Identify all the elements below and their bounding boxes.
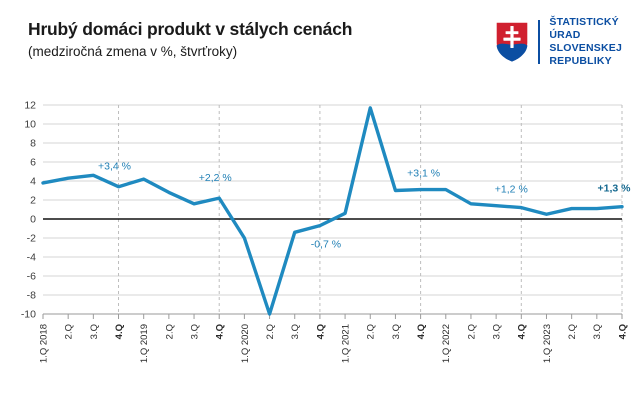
x-axis-tick-label: 1.Q 2022 — [441, 324, 452, 363]
gdp-line-chart: 121086420-2-4-6-8-10 +3,4 %+2,2 %-0,7 %+… — [0, 84, 640, 412]
value-annotation-label: +1,2 % — [495, 184, 528, 196]
x-axis-tick-label: 4.Q — [215, 324, 226, 339]
x-axis-tick-label: 4.Q — [517, 324, 528, 339]
chart-header: Hrubý domáci produkt v stálych cenách (m… — [0, 0, 640, 84]
page-title: Hrubý domáci produkt v stálych cenách — [28, 19, 352, 40]
y-axis-tick-label: -4 — [27, 252, 36, 264]
logo-text-line-1: ŠTATISTICKÝ — [549, 16, 622, 29]
slovak-coat-of-arms-icon — [495, 21, 529, 63]
logo-text: ŠTATISTICKÝ ÚRAD SLOVENSKEJ REPUBLIKY — [549, 16, 622, 69]
y-axis-tick-label: 8 — [30, 138, 36, 150]
x-axis-tick-label: 2.Q — [64, 324, 75, 339]
x-axis-tick-label: 2.Q — [265, 324, 276, 339]
y-axis-labels: 121086420-2-4-6-8-10 — [21, 100, 36, 321]
x-axis-tick-label: 1.Q 2019 — [139, 324, 150, 363]
chart-page: Hrubý domáci produkt v stálych cenách (m… — [0, 0, 640, 412]
x-axis-tick-label: 3.Q — [592, 324, 603, 339]
y-axis-tick-label: 10 — [24, 119, 36, 131]
x-axis-tick-label: 4.Q — [416, 324, 427, 339]
x-axis-tick-label: 4.Q — [114, 324, 125, 339]
logo-text-line-2: ÚRAD — [549, 29, 622, 42]
quarter-markers — [119, 105, 622, 314]
logo-text-line-4: REPUBLIKY — [549, 55, 622, 68]
x-axis-tick-label: 1.Q 2023 — [542, 324, 553, 363]
y-axis-tick-label: -2 — [27, 233, 36, 245]
x-axis-tick-label: 1.Q 2018 — [38, 324, 49, 363]
y-axis-tick-label: 2 — [30, 195, 36, 207]
x-axis-tick-label: 4.Q — [617, 324, 628, 339]
x-axis — [43, 314, 622, 319]
gdp-series-line — [43, 108, 622, 314]
x-axis-labels: 1.Q 20182.Q3.Q4.Q1.Q 20192.Q3.Q4.Q1.Q 20… — [38, 324, 628, 363]
y-axis-tick-label: 4 — [30, 176, 36, 188]
x-axis-tick-label: 3.Q — [290, 324, 301, 339]
x-axis-tick-label: 3.Q — [492, 324, 503, 339]
x-axis-tick-label: 4.Q — [315, 324, 326, 339]
value-annotation-label: +2,2 % — [199, 172, 232, 184]
x-axis-tick-label: 3.Q — [189, 324, 200, 339]
x-axis-tick-label: 3.Q — [89, 324, 100, 339]
organization-logo: ŠTATISTICKÝ ÚRAD SLOVENSKEJ REPUBLIKY — [495, 16, 622, 69]
x-axis-tick-label: 2.Q — [366, 324, 377, 339]
y-axis-tick-label: -6 — [27, 271, 36, 283]
x-axis-tick-label: 2.Q — [567, 324, 578, 339]
y-axis-tick-label: 0 — [30, 214, 36, 226]
y-axis-tick-label: -10 — [21, 309, 36, 321]
value-annotation-label: +1,3 % — [598, 183, 632, 195]
value-annotation-label: +3,1 % — [407, 168, 440, 180]
x-axis-tick-label: 1.Q 2020 — [240, 324, 251, 363]
chart-canvas: 121086420-2-4-6-8-10 +3,4 %+2,2 %-0,7 %+… — [0, 84, 640, 412]
logo-divider — [538, 20, 540, 64]
x-axis-tick-label: 3.Q — [391, 324, 402, 339]
x-axis-tick-label: 2.Q — [164, 324, 175, 339]
y-axis-tick-label: 6 — [30, 157, 36, 169]
page-subtitle: (medziročná zmena v %, štvrťroky) — [28, 44, 237, 59]
x-axis-tick-label: 1.Q 2021 — [340, 324, 351, 363]
x-axis-tick-label: 2.Q — [466, 324, 477, 339]
value-annotation-label: +3,4 % — [98, 161, 131, 173]
value-annotation-label: -0,7 % — [311, 239, 341, 251]
logo-text-line-3: SLOVENSKEJ — [549, 42, 622, 55]
value-annotations: +3,4 %+2,2 %-0,7 %+3,1 %+1,2 %+1,3 % — [98, 161, 631, 251]
data-series-line — [43, 108, 622, 314]
y-axis-tick-label: -8 — [27, 290, 36, 302]
y-axis-tick-label: 12 — [24, 100, 36, 112]
